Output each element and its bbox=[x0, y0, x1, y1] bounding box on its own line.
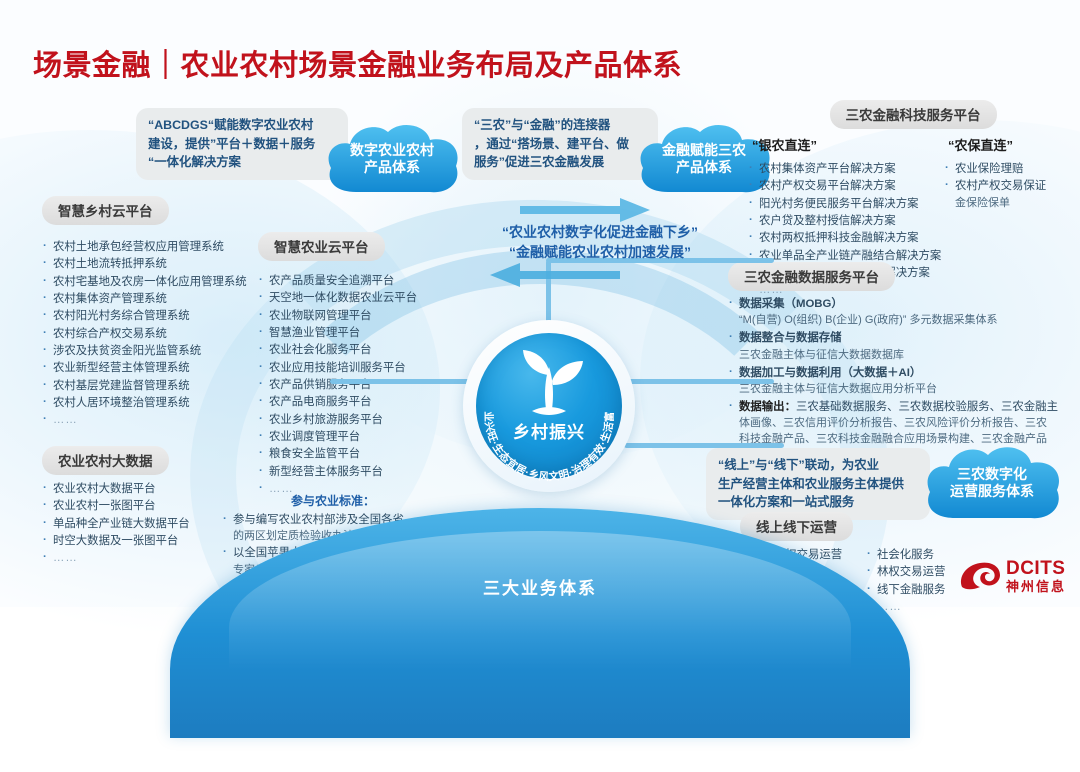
slide-canvas: 场景金融｜农业农村场景金融业务布局及产品体系 “ABCDGS“赋能数字农业农村 … bbox=[0, 0, 1080, 607]
list-item: 农村产权交易保证 bbox=[944, 178, 1074, 195]
data-output-line-1: 三农基础数据服务、三农数据校验服务、三农金融主 bbox=[796, 401, 1058, 413]
list-item: 天空地一体化数据农业云平台 bbox=[258, 290, 464, 307]
list-item: 涉农及扶贫资金阳光监管系统 bbox=[42, 343, 270, 360]
list-item: 农村人居环境整治管理系统 bbox=[42, 395, 270, 412]
connector-right-horizontal bbox=[624, 379, 774, 384]
list-item: 农村综合产权交易系统 bbox=[42, 326, 270, 343]
list-item: 数据输出：三农基础数据服务、三农数据校验服务、三农金融主 bbox=[728, 399, 1080, 416]
callout-finance-connector: “三农”与“金融”的连接器 ，通过“搭场景、建平台、做 服务”促进三农金融发展 bbox=[462, 108, 658, 180]
callout-line-1: “ABCDGS“赋能数字农业农村 bbox=[148, 116, 336, 135]
list-item: 数据采集（MOBG） bbox=[728, 296, 1080, 313]
arrow-left-lower-icon bbox=[490, 262, 620, 288]
list-item: 农村集体资产平台解决方案 bbox=[748, 161, 944, 178]
list-item: 农村土地承包经营权应用管理系统 bbox=[42, 239, 270, 256]
list-item: 农业保险理赔 bbox=[944, 161, 1074, 178]
cloud-label: 三农数字化 运营服务体系 bbox=[950, 466, 1034, 501]
data-output-label: 数据输出： bbox=[739, 401, 796, 413]
list-item: 农户贷及整村授信解决方案 bbox=[748, 213, 944, 230]
data-collect-detail: “M(自营) O(组织) B(企业) G(政府)” 多元数据采集体系 bbox=[728, 313, 1080, 329]
cloud-line-2: 产品体系 bbox=[350, 159, 434, 177]
swirl-logo-icon bbox=[958, 557, 1002, 595]
bank-direct-title: “银农直连” bbox=[748, 135, 944, 154]
smart-village-panel: 智慧乡村云平台 农村土地承包经营权应用管理系统 农村土地流转抵押系统 农村宅基地… bbox=[42, 196, 270, 430]
data-platform-panel: 三农金融数据服务平台 数据采集（MOBG） “M(自营) O(组织) B(企业)… bbox=[728, 262, 1080, 464]
list-item: 阳光村务便民服务平台解决方案 bbox=[748, 196, 944, 213]
band-label: 三大业务体系 bbox=[0, 574, 1080, 599]
logo-cn: 神州信息 bbox=[1006, 580, 1066, 593]
insurance-direct-list: 农业保险理赔 农村产权交易保证 bbox=[944, 161, 1074, 196]
smart-village-list: 农村土地承包经营权应用管理系统 农村土地流转抵押系统 农村宅基地及农房一体化应用… bbox=[42, 239, 270, 430]
list-item: 农业乡村旅游服务平台 bbox=[258, 412, 464, 429]
cloud-line-1: 金融赋能三农 bbox=[662, 142, 746, 160]
connector-left-horizontal bbox=[330, 379, 476, 384]
fintech-platform-header: 三农金融科技服务平台 bbox=[830, 100, 997, 129]
callout-digital-agriculture: “ABCDGS“赋能数字农业农村 建设，提供”平台＋数据＋服务 “一体化解决方案 bbox=[136, 108, 348, 180]
callout-line-3: “一体化解决方案 bbox=[148, 153, 336, 172]
arrow-right-upper-icon bbox=[520, 197, 650, 223]
data-platform-list: 数据采集（MOBG） bbox=[728, 296, 1080, 313]
cloud-label: 数字农业农村 产品体系 bbox=[350, 142, 434, 177]
page-title: 场景金融｜农业农村场景金融业务布局及产品体系 bbox=[33, 42, 682, 84]
callout-line-1: “三农”与“金融”的连接器 bbox=[474, 116, 646, 135]
slogan-line-1: “农业农村数字化促进金融下乡” bbox=[450, 222, 750, 242]
svg-text:产业兴旺·生态宜居·乡风文明·治理有效·生活富裕: 产业兴旺·生态宜居·乡风文明·治理有效·生活富裕 bbox=[463, 320, 616, 483]
data-platform-header: 三农金融数据服务平台 bbox=[728, 262, 895, 291]
slogan-line-2: “金融赋能农业农村加速发展” bbox=[450, 242, 750, 262]
callout-online-offline: “线上”与“线下”联动，为农业 生产经营主体和农业服务主体提供 一体化方案和一站… bbox=[706, 448, 930, 520]
digital-agriculture-cloud[interactable]: 数字农业农村 产品体系 bbox=[322, 120, 462, 198]
list-item: 农业新型经营主体管理系统 bbox=[42, 360, 270, 377]
center-curved-text: 产业兴旺·生态宜居·乡风文明·治理有效·生活富裕 bbox=[463, 320, 635, 492]
callout-line-1: “线上”与“线下”联动，为农业 bbox=[718, 456, 918, 475]
list-item: 农村阳光村务综合管理系统 bbox=[42, 308, 270, 325]
list-item: 农业物联网管理平台 bbox=[258, 308, 464, 325]
list-item: 农村宅基地及农房一体化应用管理系统 bbox=[42, 274, 270, 291]
cloud-label: 金融赋能三农 产品体系 bbox=[662, 142, 746, 177]
cloud-line-1: 数字农业农村 bbox=[350, 142, 434, 160]
list-item: 农业应用技能培训服务平台 bbox=[258, 360, 464, 377]
list-item: 数据加工与数据利用（大数据＋AI） bbox=[728, 365, 1080, 382]
list-item: …… bbox=[42, 412, 270, 429]
logo-text: DCITS 神州信息 bbox=[1006, 559, 1066, 593]
smart-agriculture-list: 农产品质量安全追溯平台 天空地一体化数据农业云平台 农业物联网管理平台 智慧渔业… bbox=[258, 273, 464, 498]
list-item: 农村两权抵押科技金融解决方案 bbox=[748, 230, 944, 247]
list-item: 农村集体资产管理系统 bbox=[42, 291, 270, 308]
slogan-text: “农业农村数字化促进金融下乡” “金融赋能农业农村加速发展” bbox=[450, 222, 750, 263]
data-output-line-2: 体画像、三农信用评价分析报告、三农风险评价分析报告、三农 bbox=[728, 416, 1080, 432]
list-item: 智慧渔业管理平台 bbox=[258, 325, 464, 342]
smart-agriculture-panel: 智慧农业云平台 农产品质量安全追溯平台 天空地一体化数据农业云平台 农业物联网管… bbox=[258, 232, 464, 498]
callout-line-3: 服务”促进三农金融发展 bbox=[474, 153, 646, 172]
curved-text-path: 产业兴旺·生态宜居·乡风文明·治理有效·生活富裕 bbox=[463, 320, 616, 483]
list-item: 数据整合与数据存储 bbox=[728, 330, 1080, 347]
cloud-line-1: 三农数字化 bbox=[950, 466, 1034, 484]
callout-line-2: 生产经营主体和农业服务主体提供 bbox=[718, 475, 918, 494]
dcits-logo: DCITS 神州信息 bbox=[958, 557, 1066, 595]
smart-agriculture-header: 智慧农业云平台 bbox=[258, 232, 385, 261]
connector-lower-right bbox=[624, 443, 784, 448]
data-storage-list: 数据整合与数据存储 bbox=[728, 330, 1080, 347]
operation-header: 线上线下运营 bbox=[740, 512, 853, 541]
list-item: 农村产权交易平台解决方案 bbox=[748, 178, 944, 195]
list-item: 农业调度管理平台 bbox=[258, 429, 464, 446]
insurance-item-continued: 金保险保单 bbox=[944, 196, 1074, 212]
list-item: 农产品电商服务平台 bbox=[258, 394, 464, 411]
data-process-list: 数据加工与数据利用（大数据＋AI） bbox=[728, 365, 1080, 382]
big-data-header: 农业农村大数据 bbox=[42, 446, 169, 475]
smart-village-header: 智慧乡村云平台 bbox=[42, 196, 169, 225]
list-item: 粮食安全监管平台 bbox=[258, 446, 464, 463]
data-process-detail: 三农金融主体与征信大数据应用分析平台 bbox=[728, 382, 1080, 398]
standards-header: 参与农业标准： bbox=[222, 492, 444, 509]
cloud-line-2: 运营服务体系 bbox=[950, 483, 1034, 501]
callout-line-3: 一体化方案和一站式服务 bbox=[718, 493, 918, 512]
list-item: 农村基层党建监督管理系统 bbox=[42, 378, 270, 395]
data-storage-detail: 三农金融主体与征信大数据数据库 bbox=[728, 348, 1080, 364]
list-item: 新型经营主体服务平台 bbox=[258, 464, 464, 481]
list-item: 农村土地流转抵押系统 bbox=[42, 256, 270, 273]
cloud-line-2: 产品体系 bbox=[662, 159, 746, 177]
callout-line-2: ，通过“搭场景、建平台、做 bbox=[474, 135, 646, 154]
callout-line-2: 建设，提供”平台＋数据＋服务 bbox=[148, 135, 336, 154]
data-output-list: 数据输出：三农基础数据服务、三农数据校验服务、三农金融主 bbox=[728, 399, 1080, 416]
insurance-direct-title: “农保直连” bbox=[944, 135, 1074, 154]
logo-en: DCITS bbox=[1006, 559, 1066, 578]
list-item: 农产品质量安全追溯平台 bbox=[258, 273, 464, 290]
list-item: 农业社会化服务平台 bbox=[258, 342, 464, 359]
